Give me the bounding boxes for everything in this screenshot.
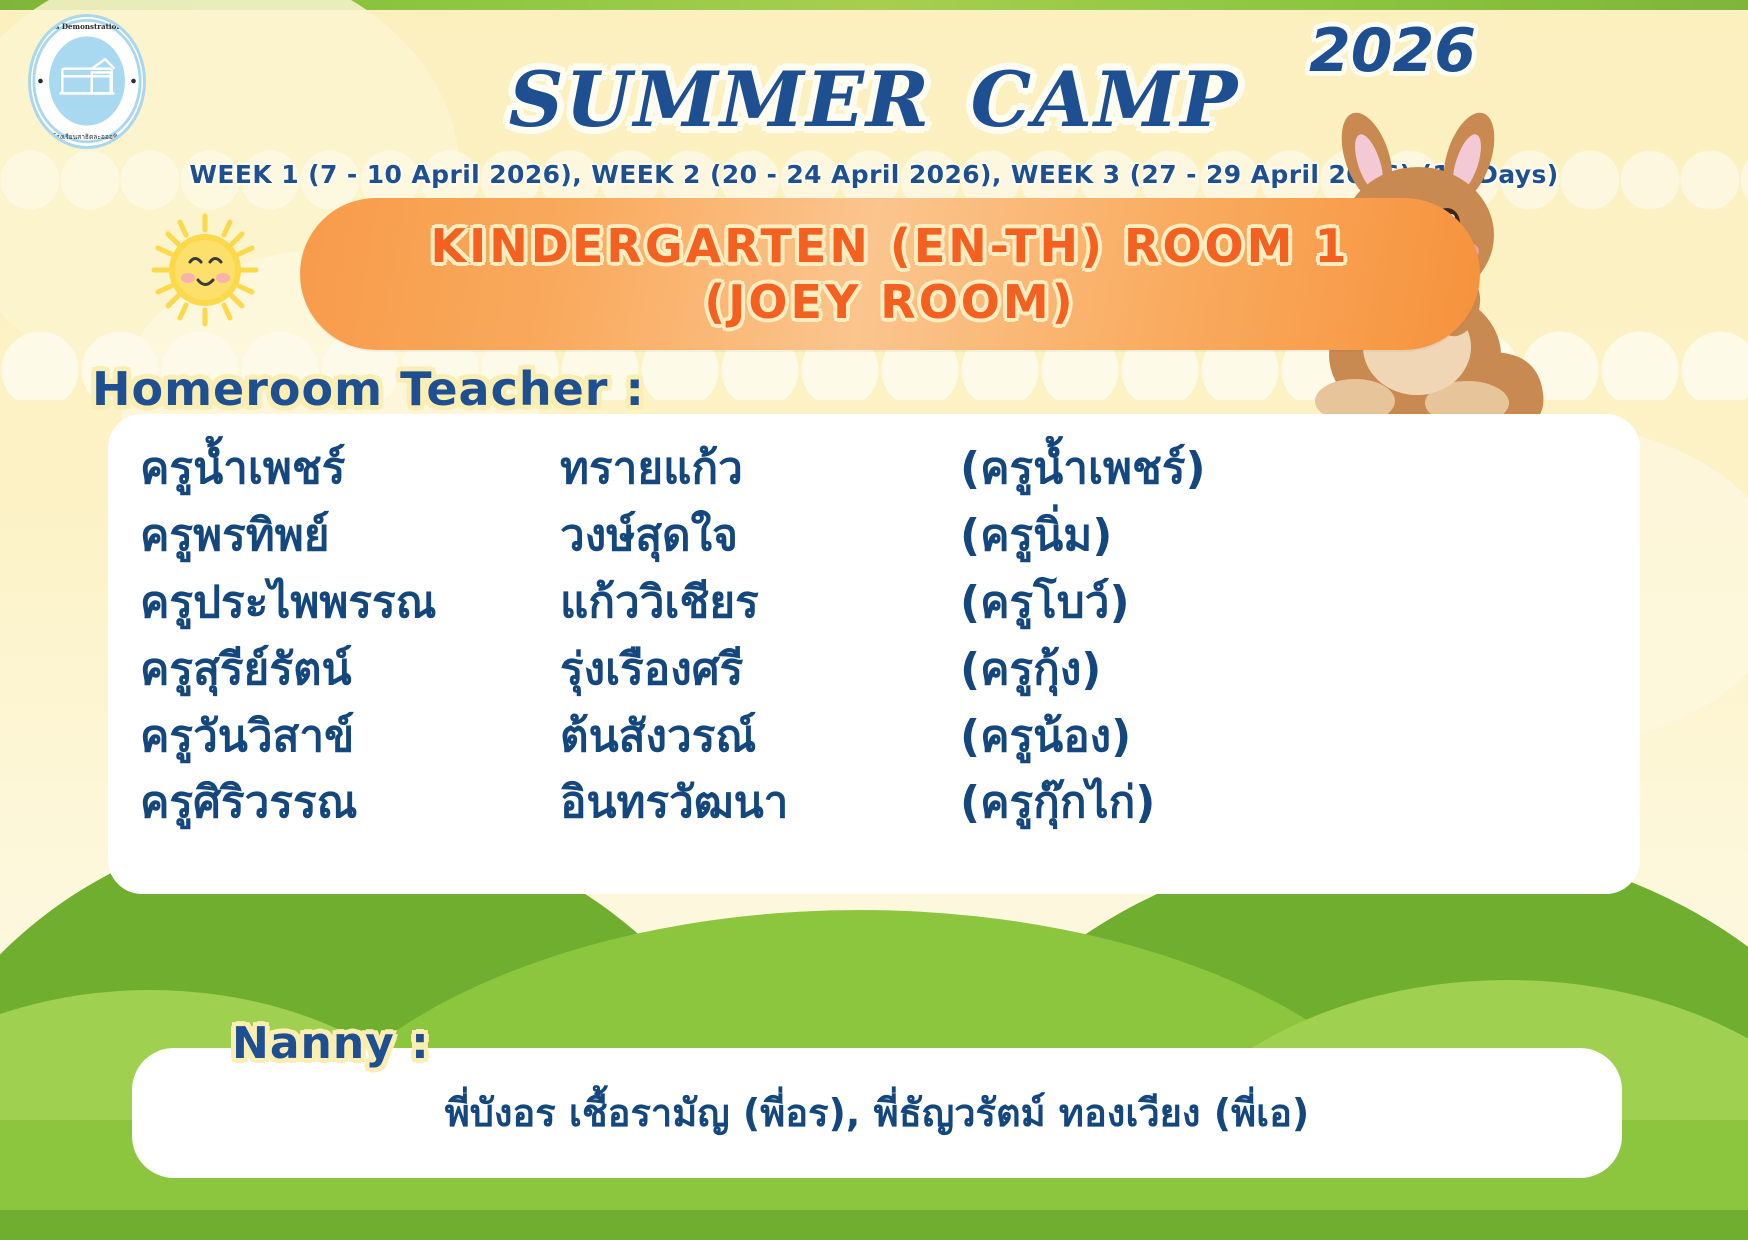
homeroom-teacher-heading: Homeroom Teacher :	[92, 362, 645, 416]
teacher-nickname: (ครูกุ๊กไก่)	[960, 770, 1155, 837]
teacher-last-name: รุ่งเรืองศรี	[560, 637, 960, 704]
teacher-nickname: (ครูน้อง)	[960, 704, 1131, 771]
teacher-nickname: (ครูน้ำเพชร์)	[960, 436, 1206, 503]
teacher-first-name: ครูน้ำเพชร์	[140, 436, 560, 503]
teacher-nickname: (ครูนิ่ม)	[960, 503, 1112, 570]
teacher-row: ครูน้ำเพชร์ทรายแก้ว(ครูน้ำเพชร์)	[140, 436, 1540, 503]
room-title-line1: KINDERGARTEN (EN-TH) ROOM 1	[431, 218, 1350, 274]
teacher-list: ครูน้ำเพชร์ทรายแก้ว(ครูน้ำเพชร์)ครูพรทิพ…	[140, 436, 1540, 837]
teacher-last-name: อินทรวัฒนา	[560, 770, 960, 837]
sun-icon	[140, 210, 270, 330]
teacher-row: ครูพรทิพย์วงษ์สุดใจ(ครูนิ่ม)	[140, 503, 1540, 570]
nanny-names: พี่บังอร เชื้อรามัญ (พี่อร), พี่ธัญวรัตม…	[132, 1082, 1622, 1143]
teacher-last-name: ต้นสังวรณ์	[560, 704, 960, 771]
teacher-first-name: ครูศิริวรรณ	[140, 770, 560, 837]
nanny-heading: Nanny :	[232, 1018, 430, 1069]
teacher-last-name: ทรายแก้ว	[560, 436, 960, 503]
room-title-line2: (JOEY ROOM)	[704, 274, 1075, 330]
teacher-row: ครูวันวิสาข์ต้นสังวรณ์(ครูน้อง)	[140, 704, 1540, 771]
teacher-last-name: แก้ววิเชียร	[560, 570, 960, 637]
teacher-row: ครูประไพพรรณแก้ววิเชียร(ครูโบว์)	[140, 570, 1540, 637]
teacher-first-name: ครูสุรีย์รัตน์	[140, 637, 560, 704]
teacher-row: ครูศิริวรรณอินทรวัฒนา(ครูกุ๊กไก่)	[140, 770, 1540, 837]
teacher-first-name: ครูประไพพรรณ	[140, 570, 560, 637]
school-logo: La-orutis Demonstration School โรงเรียนส…	[28, 14, 146, 149]
teacher-row: ครูสุรีย์รัตน์รุ่งเรืองศรี(ครูกุ้ง)	[140, 637, 1540, 704]
teacher-first-name: ครูพรทิพย์	[140, 503, 560, 570]
page-title: summer camp	[509, 26, 1240, 152]
poster-canvas: La-orutis Demonstration School โรงเรียนส…	[0, 0, 1748, 1240]
teacher-nickname: (ครูโบว์)	[960, 570, 1130, 637]
teacher-last-name: วงษ์สุดใจ	[560, 503, 960, 570]
bottom-green-bar	[0, 1210, 1748, 1240]
teacher-first-name: ครูวันวิสาข์	[140, 704, 560, 771]
year-badge: 2026	[1309, 16, 1476, 86]
room-banner: KINDERGARTEN (EN-TH) ROOM 1 (JOEY ROOM)	[300, 198, 1480, 350]
teacher-nickname: (ครูกุ้ง)	[960, 637, 1101, 704]
svg-text:โรงเรียนสาธิตละอออุทิศ: โรงเรียนสาธิตละอออุทิศ	[53, 133, 123, 141]
